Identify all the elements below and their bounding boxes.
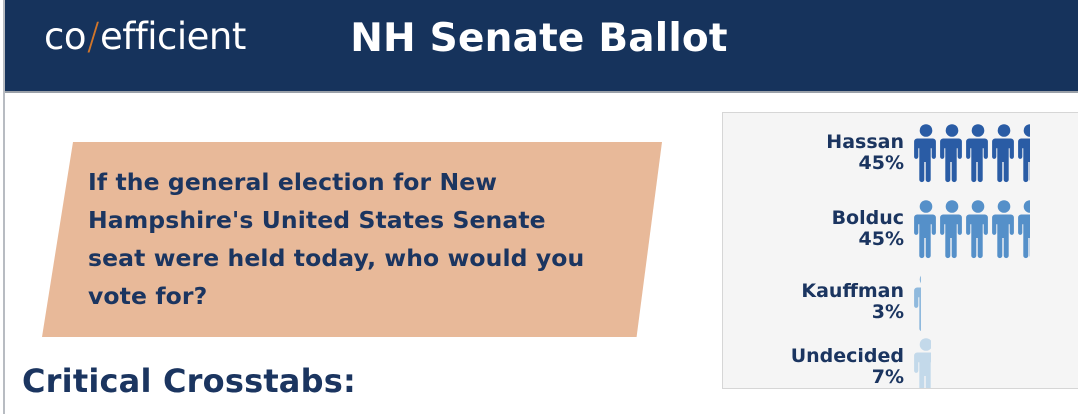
pictogram-figures [913,333,1078,389]
person-icon [991,199,1017,263]
pictogram-figures [913,195,1078,263]
category-value: 45% [723,153,904,174]
person-icon [939,123,965,187]
category-name: Bolduc [723,208,904,229]
category-name: Undecided [723,346,904,367]
category-name: Kauffman [723,281,904,302]
page-title: NH Senate Ballot [0,16,1078,63]
ballot-pictogram-chart: Hassan45%Bolduc45%Kauffman3%Undecided7% [722,112,1078,389]
critical-crosstabs-heading: Critical Crosstabs: [22,362,356,400]
pictogram-row: Bolduc45% [723,195,1078,263]
person-icon-partial [1017,123,1030,187]
person-icon [913,199,939,263]
pictogram-row: Kauffman3% [723,268,1078,336]
pictogram-row: Hassan45% [723,119,1078,187]
person-icon [965,123,991,187]
header-underline [5,91,1078,93]
person-icon [939,199,965,263]
person-icon [965,199,991,263]
category-value: 7% [723,367,904,388]
category-value: 3% [723,302,904,323]
person-icon-partial [1017,199,1030,263]
pictogram-figures [913,268,1078,336]
pictogram-row-label: Bolduc45% [723,208,913,251]
pictogram-row-label: Hassan45% [723,132,913,175]
person-icon-partial [913,337,931,389]
pictogram-figures [913,119,1078,187]
pictogram-row-label: Kauffman3% [723,281,913,324]
person-icon-partial [913,272,921,336]
pictogram-row: Undecided7% [723,333,1078,389]
person-icon [991,123,1017,187]
slide-canvas: co/efficient NH Senate Ballot If the gen… [0,0,1078,414]
question-text: If the general election for New Hampshir… [88,163,608,315]
pictogram-row-label: Undecided7% [723,346,913,389]
person-icon [913,123,939,187]
category-name: Hassan [723,132,904,153]
category-value: 45% [723,229,904,250]
pictogram-rows: Hassan45%Bolduc45%Kauffman3%Undecided7% [723,113,1078,388]
